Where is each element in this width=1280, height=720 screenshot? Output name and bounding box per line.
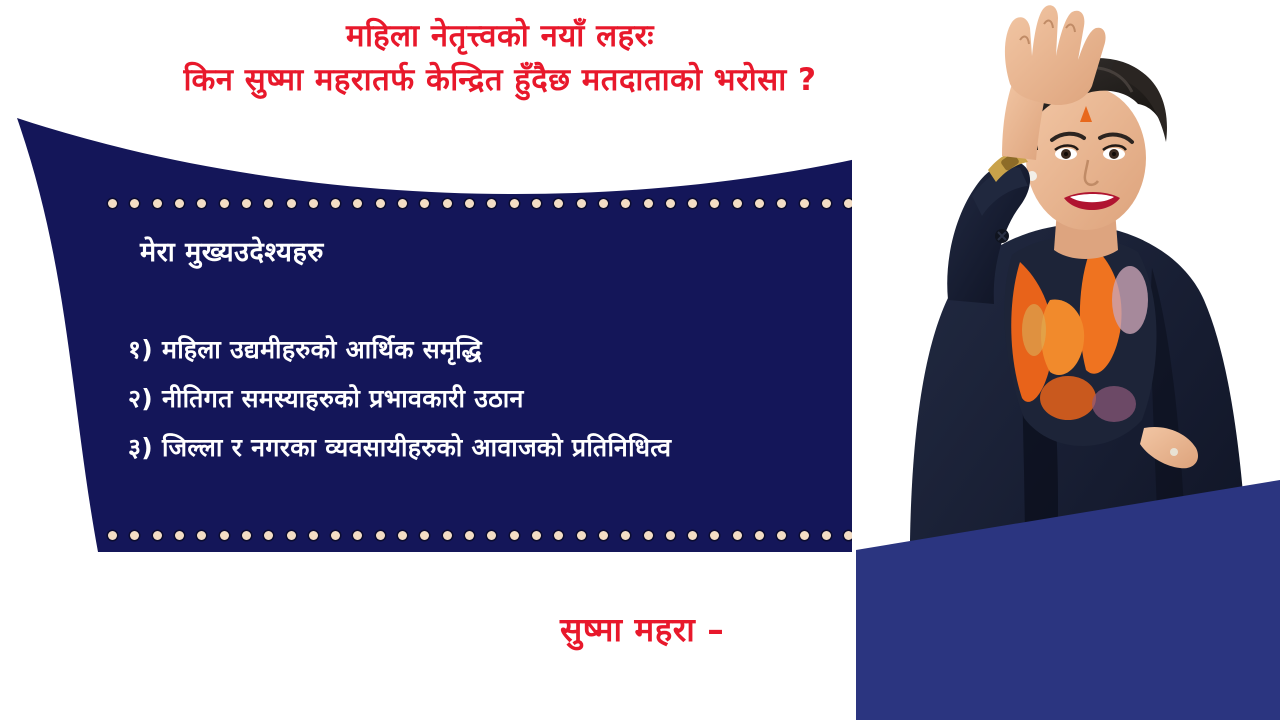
candidate-signature-name: सुष्मा महरा – xyxy=(560,606,724,651)
credentials-card xyxy=(856,480,1280,720)
org-secondary: नेपाल उद्योग वाणिज्य संघ, काठमाडौं xyxy=(22,656,442,683)
role-primary: प्रबन्ध निर्देशक xyxy=(22,560,442,590)
role-secondary: सचिव xyxy=(22,626,442,656)
credentials-text: प्रबन्ध निर्देशक फेसियल हाउस सचिव नेपाल … xyxy=(22,560,442,683)
poster-root: महिला नेतृत्त्वको नयाँ लहरः किन सुष्मा म… xyxy=(0,0,1280,720)
org-primary: फेसियल हाउस xyxy=(22,590,442,617)
